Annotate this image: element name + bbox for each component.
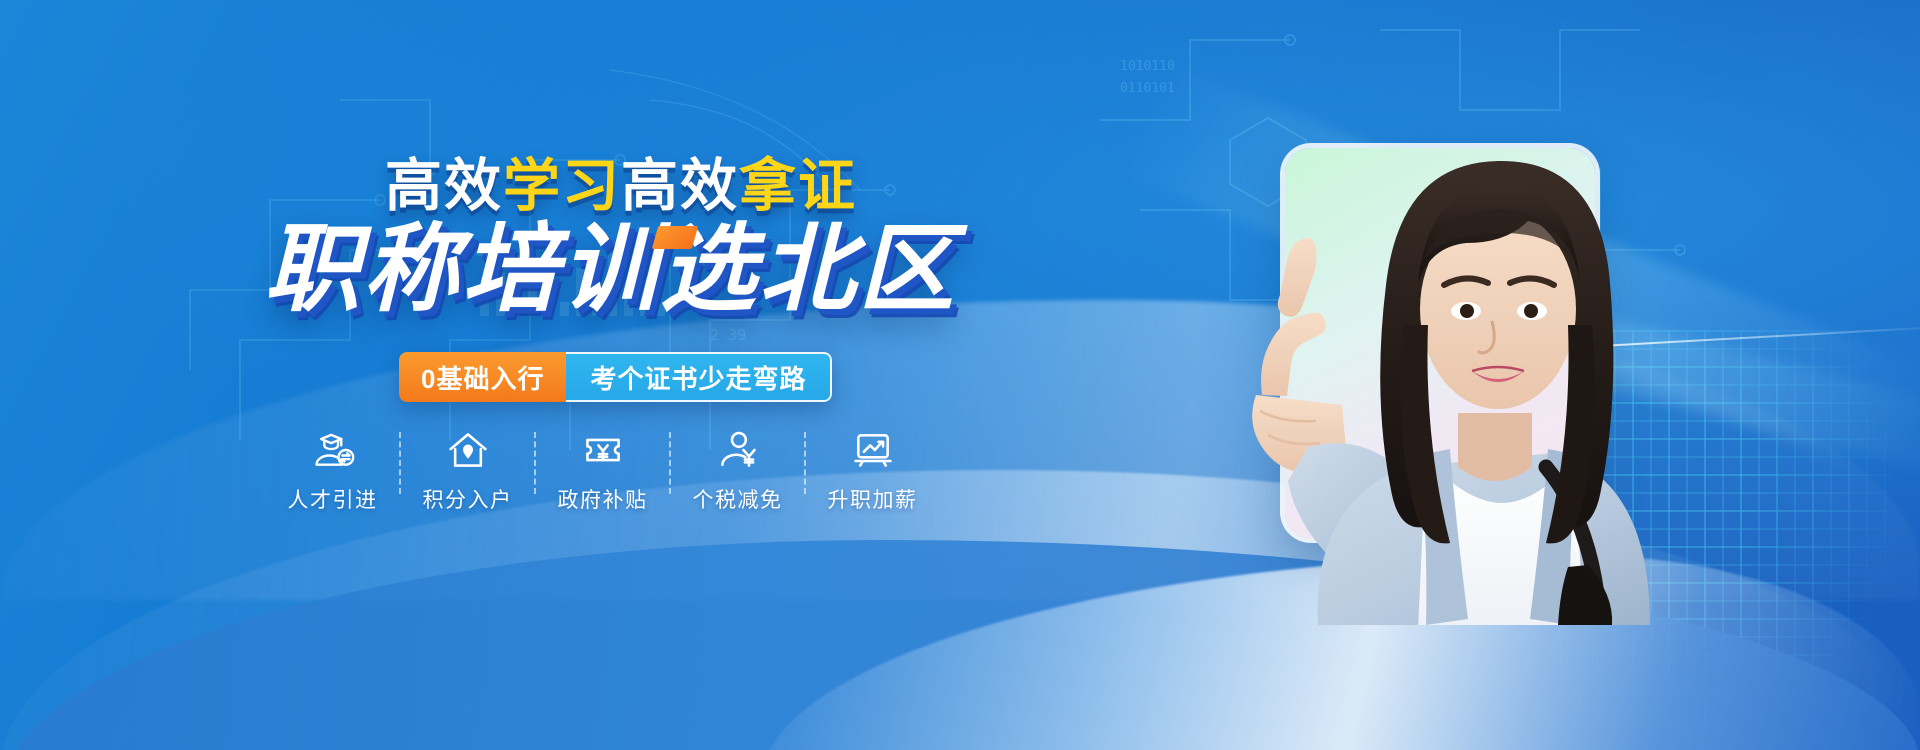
feature-row: 人才引进 积分入户: [266, 428, 939, 514]
feature-label: 积分入户: [423, 484, 513, 514]
graduate-person-icon: [311, 428, 355, 472]
svg-text:1010110: 1010110: [1120, 59, 1175, 74]
house-pin-icon: [446, 428, 490, 472]
cta-pill[interactable]: 0基础入行 考个证书少走弯路: [399, 352, 832, 402]
cta-right-label[interactable]: 考个证书少走弯路: [566, 352, 832, 402]
feature-label: 政府补贴: [558, 484, 648, 514]
sub-headline-part-4: 拿证: [739, 154, 857, 218]
orange-accent-mark: [652, 226, 699, 249]
feature-label: 升职加薪: [828, 484, 918, 514]
feature-item-promotion-raise[interactable]: 升职加薪: [806, 428, 939, 514]
sub-headline-part-3: 高效: [621, 154, 739, 218]
pointing-hand: [1252, 238, 1348, 473]
sub-headline-part-2: 学习: [503, 154, 621, 218]
person-yuan-icon: [716, 428, 760, 472]
svg-text:2 39: 2 39: [710, 326, 746, 344]
chart-board-icon: [851, 428, 895, 472]
hero-person-photo: [1190, 95, 1660, 625]
feature-label: 个税减免: [693, 484, 783, 514]
sub-headline-part-1: 高效: [385, 154, 503, 218]
promo-banner: 2 39 1010110 0110101 110011 101100: [0, 0, 1920, 750]
feature-item-tax-reduction[interactable]: 个税减免: [671, 428, 804, 514]
feature-label: 人才引进: [288, 484, 378, 514]
feature-item-talent-introduction[interactable]: 人才引进: [266, 428, 399, 514]
feature-item-points-residency[interactable]: 积分入户: [401, 428, 534, 514]
sub-headline: 高效学习高效拿证: [385, 158, 857, 215]
cta-left-label[interactable]: 0基础入行: [399, 352, 566, 402]
voucher-yuan-icon: [581, 428, 625, 472]
feature-item-government-subsidy[interactable]: 政府补贴: [536, 428, 669, 514]
svg-text:0110101: 0110101: [1120, 81, 1175, 96]
main-headline: 职称培训选北区: [264, 222, 957, 318]
